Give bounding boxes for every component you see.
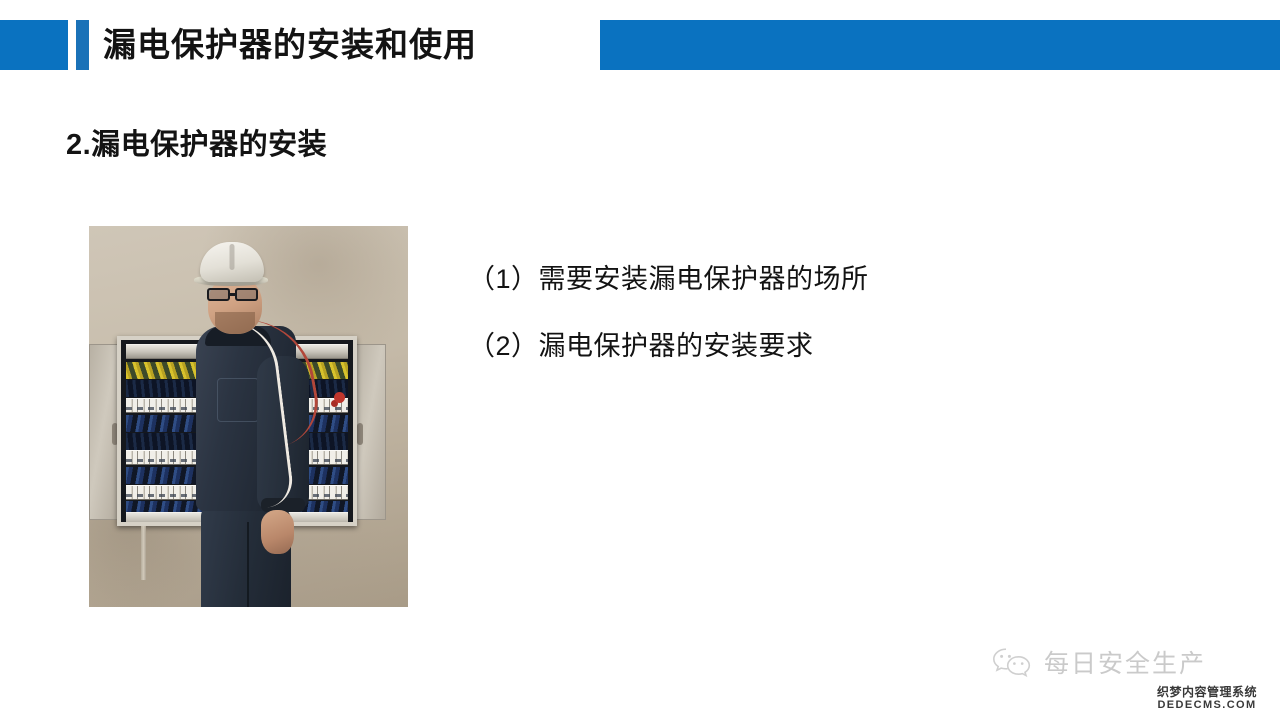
helmet-ridge bbox=[230, 244, 235, 270]
safety-helmet-icon bbox=[200, 242, 264, 282]
glasses-bridge bbox=[230, 293, 237, 296]
worker-glasses-icon bbox=[205, 288, 264, 301]
dedecms-watermark: 织梦内容管理系统 DEDECMS.COM bbox=[1146, 686, 1268, 712]
wechat-watermark: 每日安全生产 bbox=[991, 644, 1249, 680]
worker-beard bbox=[215, 312, 255, 334]
body-line-2: （2）漏电保护器的安装要求 bbox=[468, 324, 814, 363]
header-tick-icon bbox=[76, 20, 89, 70]
glasses-lens-right bbox=[235, 288, 258, 301]
dedecms-watermark-cn: 织梦内容管理系统 bbox=[1146, 686, 1268, 699]
dedecms-watermark-en: DEDECMS.COM bbox=[1146, 699, 1268, 712]
wechat-account-name: 每日安全生产 bbox=[1044, 644, 1206, 680]
slide-header: 漏电保护器的安装和使用 bbox=[0, 20, 1280, 70]
worker-leg-seam bbox=[247, 522, 249, 607]
slide-root: 漏电保护器的安装和使用 2.漏电保护器的安装 bbox=[0, 0, 1280, 720]
section-heading: 2.漏电保护器的安装 bbox=[66, 121, 327, 163]
page-title: 漏电保护器的安装和使用 bbox=[103, 20, 483, 70]
glasses-lens-left bbox=[207, 288, 230, 301]
electrician-photo bbox=[89, 226, 408, 607]
body-line-1: （1）需要安装漏电保护器的场所 bbox=[468, 257, 869, 296]
header-right-bar-icon bbox=[600, 20, 1280, 70]
worker-figure bbox=[89, 226, 408, 607]
header-left-block-icon bbox=[0, 20, 68, 70]
worker-hand bbox=[261, 510, 294, 554]
wechat-icon bbox=[991, 646, 1033, 678]
